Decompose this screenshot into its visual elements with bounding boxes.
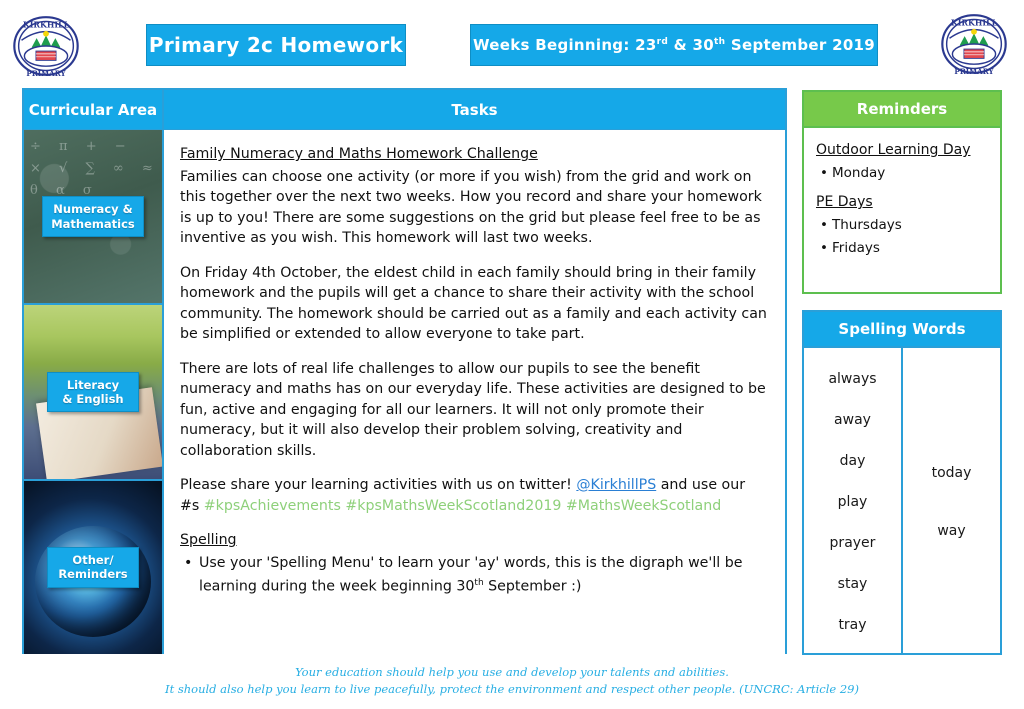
tasks-column: Family Numeracy and Maths Homework Chall… [164, 130, 785, 654]
uncrc-footer: Your education should help you use and d… [0, 664, 1024, 698]
spelling-words-panel: Spelling Words always away day play pray… [802, 310, 1002, 655]
list-item: day [840, 453, 866, 469]
spelling-words-column-left: always away day play prayer stay tray [804, 348, 903, 655]
tasks-heading-family-challenge: Family Numeracy and Maths Homework Chall… [180, 144, 767, 165]
list-item: always [828, 371, 876, 387]
weeks-beginning-text: Weeks Beginning: 23rd & 30th September 2… [473, 36, 875, 54]
spelling-instructions-list: Use your 'Spelling Menu' to learn your '… [180, 553, 767, 598]
curricular-label-literacy-line2: & English [62, 392, 123, 406]
list-item: today [932, 465, 972, 481]
curricular-label-other-line1: Other/ [72, 553, 113, 567]
svg-text:KIRKHILL: KIRKHILL [23, 20, 70, 29]
footer-line-2: It should also help you learn to live pe… [0, 681, 1024, 698]
hashtag-1: #kpsAchievements [204, 498, 341, 514]
weeks-prefix: Weeks Beginning: 23 [473, 36, 657, 54]
footer-line-1: Your education should help you use and d… [0, 664, 1024, 681]
weeks-mid: & 30 [668, 36, 714, 54]
curricular-area-literacy: Literacy & English [24, 305, 162, 480]
spelling-bullet-text-a: Use your 'Spelling Menu' to learn your '… [199, 555, 742, 595]
curricular-area-other: Other/ Reminders [24, 481, 162, 654]
tasks-paragraph-2: On Friday 4th October, the eldest child … [180, 263, 767, 345]
curricular-label-literacy-line1: Literacy [67, 378, 119, 392]
table-header-row: Curricular Area Tasks [24, 90, 785, 130]
reminders-panel-body: Outdoor Learning Day Monday PE Days Thur… [804, 128, 1000, 258]
list-item: Fridays [832, 238, 990, 258]
weeks-beginning-banner: Weeks Beginning: 23rd & 30th September 2… [470, 24, 878, 66]
reminders-panel-title: Reminders [804, 92, 1000, 128]
tasks-heading-spelling-text: Spelling [180, 532, 237, 548]
curricular-area-numeracy: Numeracy & Mathematics [24, 130, 162, 305]
curricular-label-literacy: Literacy & English [47, 372, 139, 413]
reminders-group-outdoor-learning-title: Outdoor Learning Day [816, 140, 990, 160]
tasks-heading-family-challenge-text: Family Numeracy and Maths Homework Chall… [180, 146, 538, 162]
list-item: prayer [830, 535, 876, 551]
curricular-label-numeracy-line1: Numeracy & [53, 202, 132, 216]
curricular-label-other-line2: Reminders [58, 567, 127, 581]
school-crest-logo-right: KIRKHILL PRIMARY [938, 8, 1010, 80]
list-item: way [937, 523, 965, 539]
spelling-bullet-text-b: September :) [484, 579, 582, 595]
hashtag-2: #kpsMathsWeekScotland2019 [345, 498, 561, 514]
reminders-group-pe-days-title: PE Days [816, 192, 990, 212]
tasks-heading-spelling: Spelling [180, 530, 767, 551]
weeks-ordinal-1: rd [657, 37, 668, 47]
svg-text:KIRKHILL: KIRKHILL [951, 18, 998, 27]
spelling-words-table: always away day play prayer stay tray to… [804, 348, 1000, 655]
svg-text:PRIMARY: PRIMARY [954, 67, 994, 76]
reminders-group-pe-days-list: Thursdays Fridays [816, 215, 990, 258]
curricular-area-column: Numeracy & Mathematics Literacy & Englis… [24, 130, 164, 654]
page-title-banner: Primary 2c Homework [146, 24, 406, 66]
twitter-prefix-text: Please share your learning activities wi… [180, 477, 576, 493]
list-item: Monday [832, 163, 990, 183]
twitter-handle-link[interactable]: @KirkhillPS [576, 477, 656, 493]
homework-table: Curricular Area Tasks Numeracy & Mathema… [22, 88, 787, 654]
tasks-twitter-paragraph: Please share your learning activities wi… [180, 475, 767, 516]
spelling-words-panel-title: Spelling Words [804, 312, 1000, 348]
tasks-paragraph-1: Families can choose one activity (or mor… [180, 167, 767, 249]
list-item: tray [838, 617, 866, 633]
list-item: away [834, 412, 871, 428]
spelling-words-column-right: today way [903, 348, 1000, 655]
tasks-paragraph-3: There are lots of real life challenges t… [180, 359, 767, 462]
page-title: Primary 2c Homework [149, 33, 403, 57]
spelling-bullet-ordinal: th [474, 578, 483, 588]
curricular-label-numeracy-line2: Mathematics [51, 217, 135, 231]
column-header-tasks: Tasks [164, 90, 785, 130]
twitter-suffix-text: and use our [656, 477, 745, 493]
weeks-ordinal-2: th [714, 37, 725, 47]
hashtag-3: #MathsWeekScotland [566, 498, 721, 514]
school-crest-logo-left: KIRKHILL PRIMARY [10, 10, 82, 82]
weeks-suffix: September 2019 [725, 36, 875, 54]
curricular-label-numeracy: Numeracy & Mathematics [42, 196, 144, 237]
list-item: stay [838, 576, 868, 592]
list-item: Thursdays [832, 215, 990, 235]
column-header-curricular-area: Curricular Area [24, 90, 164, 130]
svg-text:PRIMARY: PRIMARY [26, 69, 66, 78]
homework-newsletter-page: KIRKHILL PRIMARY KIRKHILL PRIMARY [0, 0, 1024, 709]
table-body: Numeracy & Mathematics Literacy & Englis… [24, 130, 785, 654]
hashtag-label: #s [180, 498, 199, 514]
curricular-label-other: Other/ Reminders [47, 547, 139, 588]
list-item: Use your 'Spelling Menu' to learn your '… [197, 553, 767, 598]
reminders-group-outdoor-learning-list: Monday [816, 163, 990, 183]
list-item: play [838, 494, 868, 510]
reminders-panel: Reminders Outdoor Learning Day Monday PE… [802, 90, 1002, 294]
